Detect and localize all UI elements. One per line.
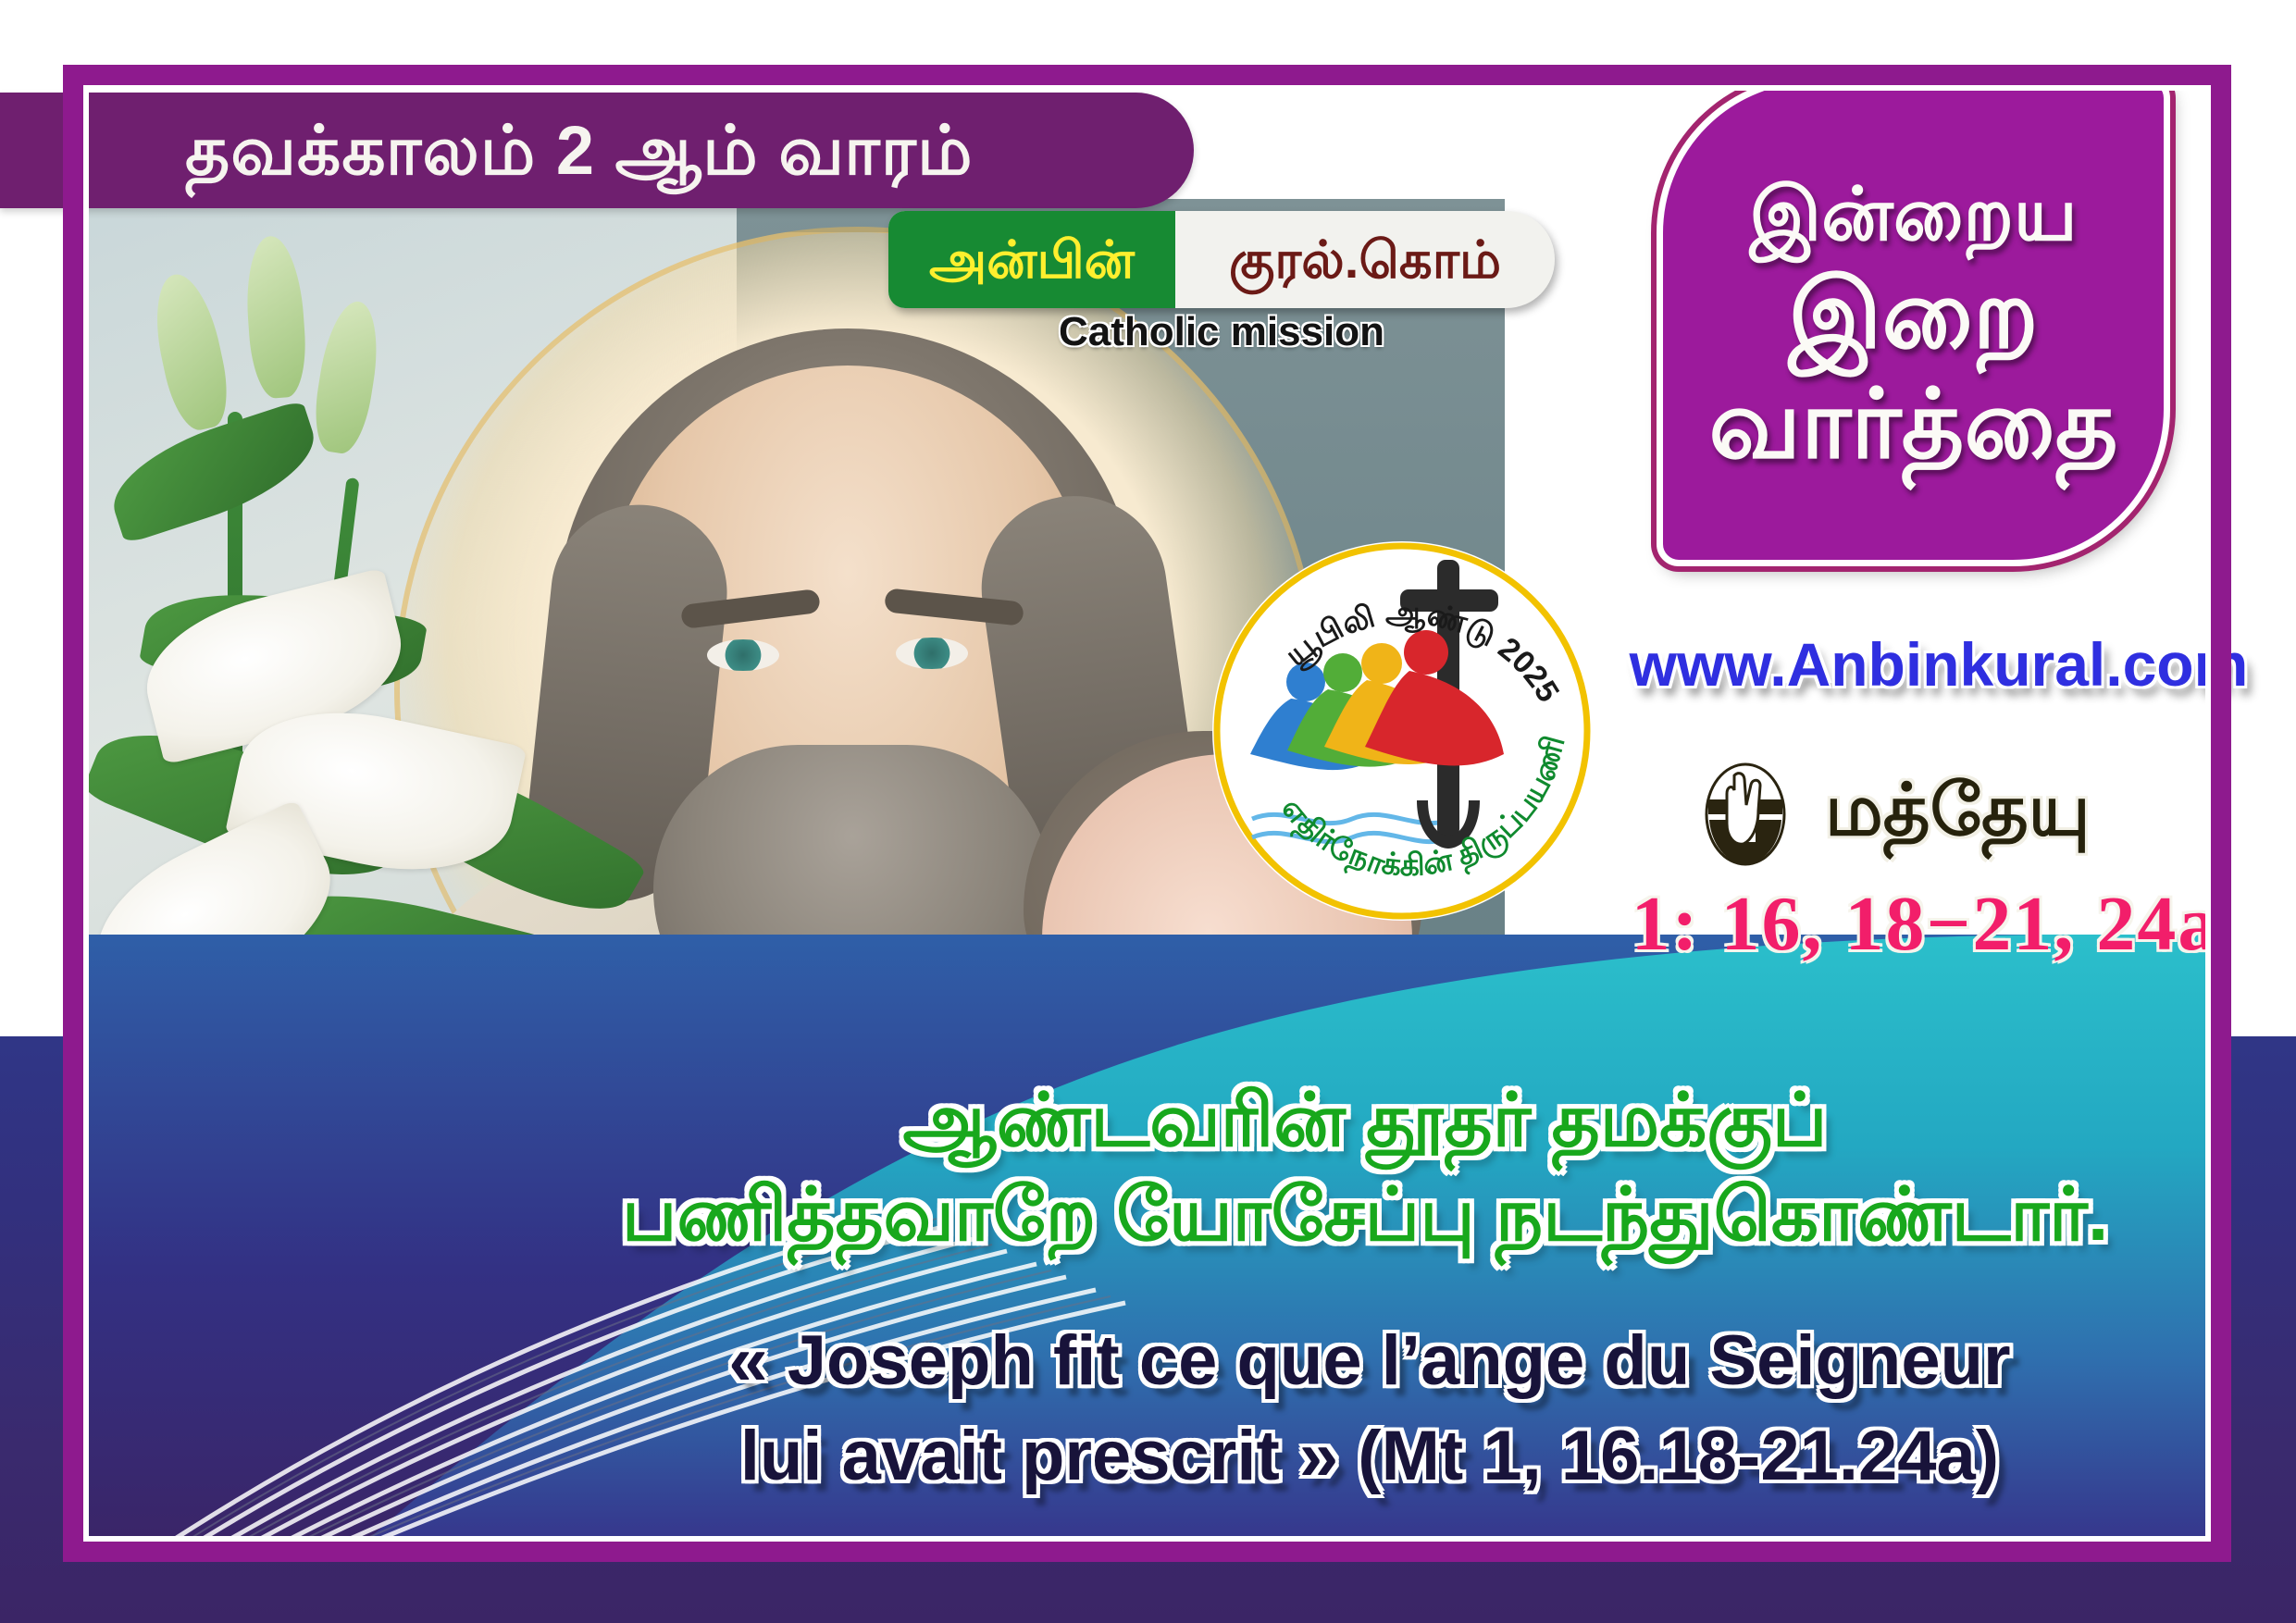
daily-word-line2: இறை: [1788, 265, 2038, 365]
season-banner: தவக்காலம் 2 ஆம் வாரம்: [0, 93, 1194, 208]
joseph-eye-left: [707, 639, 779, 671]
verse-tamil-line1: ஆண்டவரின் தூதர் தமக்குப்: [518, 1073, 2212, 1168]
logo-word-right: குரல்.கொம்: [1229, 234, 1501, 286]
logo-tagline: Catholic mission: [898, 309, 1545, 355]
daily-word-line3: வார்த்தை: [1708, 375, 2117, 476]
lily-bud: [145, 268, 236, 435]
anbinkural-logo[interactable]: அன்பின் குரல்.கொம் Catholic mission: [888, 211, 1555, 308]
logo-white-half: குரல்.கொம்: [1175, 211, 1555, 308]
scripture-reference: 1: 16, 18−21, 24a: [1573, 879, 2277, 969]
poster-root: தவக்காலம் 2 ஆம் வாரம் அன்பின் குரல்.கொம்…: [0, 0, 2296, 1623]
lily-bud: [242, 234, 309, 400]
logo-word-left: அன்பின்: [929, 234, 1135, 286]
jubilee-2025-emblem: யூபிலி ஆண்டு 2025 எதிர்நோக்கின் திருப்பய…: [1198, 523, 1606, 939]
daily-word-box: இன்றைய இறை வார்த்தை: [1657, 76, 2170, 566]
verse-french: « Joseph fit ce que l’ange du Seigneur l…: [518, 1314, 2221, 1504]
verse-french-line2: lui avait prescrit » (Mt 1, 16.18-21.24a…: [518, 1409, 2221, 1505]
verse-tamil-line2: பணித்தவாறே யோசேப்பு நடந்துகொண்டார்.: [518, 1168, 2212, 1262]
joseph-eye-right: [896, 638, 968, 669]
logo-green-half: அன்பின்: [888, 211, 1175, 308]
verse-french-line1: « Joseph fit ce que l’ange du Seigneur: [518, 1314, 2221, 1409]
season-banner-label: தவக்காலம் 2 ஆம் வாரம்: [185, 117, 974, 185]
lily-bud: [308, 297, 385, 456]
website-url[interactable]: www.Anbinkural.com: [1615, 629, 2263, 700]
verse-tamil: ஆண்டவரின் தூதர் தமக்குப் பணித்தவாறே யோசே…: [518, 1073, 2212, 1263]
blessing-hand-icon: [1703, 762, 1788, 866]
scripture-book-label: மத்தேயு: [1825, 768, 2091, 861]
scripture-book-row: மத்தேயு: [1703, 763, 2277, 865]
daily-word-line1: இன்றைய: [1749, 176, 2077, 254]
